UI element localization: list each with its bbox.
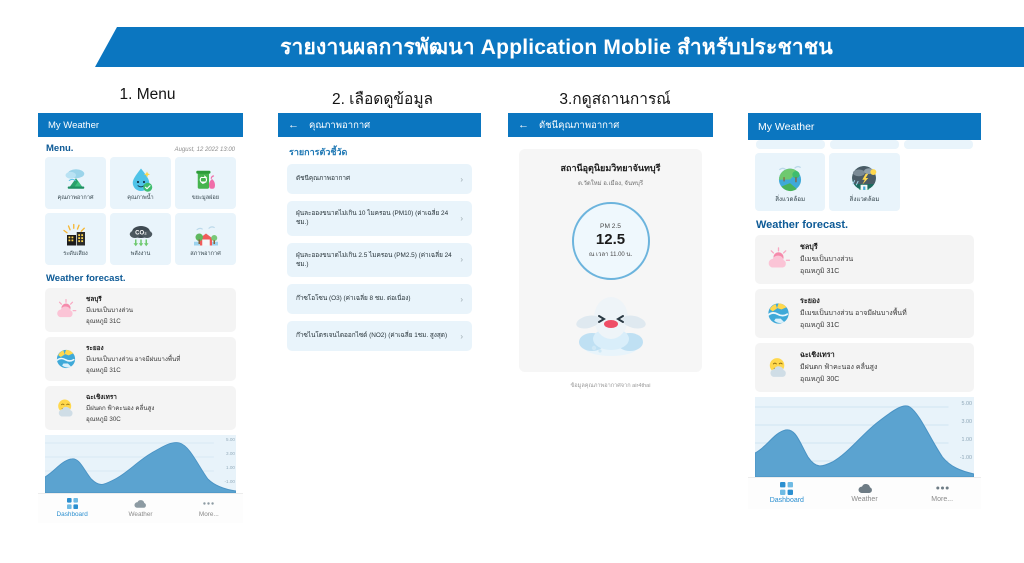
forecast-card[interactable]: ชลบุรี มีเมฆเป็นบางส่วน อุณหภูมิ 31C [45, 288, 236, 332]
y-tick-label: -1.00 [225, 479, 235, 484]
nav-label: Dashboard [770, 497, 804, 504]
step-caption-2: 2. เลือดดูข้อมูล [295, 86, 470, 111]
data-source-note: ข้อมูลคุณภาพอากาศจาก air4thai [508, 382, 713, 390]
chevron-right-icon: › [460, 175, 463, 184]
menu-tile-grid: คุณภาพอากาศ คุณภาพน้ำ [38, 157, 243, 265]
area-chart-svg [755, 397, 974, 477]
menu-tile-environment-2[interactable]: สิ่งแวดล้อม [829, 153, 899, 211]
energy-co2-icon: CO₂ [126, 220, 156, 250]
menu-tile-environment-1[interactable]: สิ่งแวดล้อม [755, 153, 825, 211]
forecast-desc: มีฝนตก ฟ้าคะนอง คลื่นสูง [86, 403, 154, 413]
noise-level-icon [61, 220, 91, 250]
phone3-app-bar: ← ดัชนีคุณภาพอากาศ [508, 113, 713, 137]
phone-mockup-menu: My Weather Menu. August, 12 2022 13:00 [38, 113, 243, 545]
forecast-text: ระยอง มีเมฆเป็นบางส่วน อาจมีฝนบางพื้นที่… [86, 343, 180, 375]
menu-tile-row-cropped [748, 140, 981, 149]
back-arrow-icon[interactable]: ← [288, 120, 299, 131]
pm25-time: ณ เวลา 11.00 น. [589, 249, 632, 259]
forecast-card[interactable]: ระยอง มีเมฆเป็นบางส่วน อาจมีฝนบางพื้นที่… [45, 337, 236, 381]
indicator-list-item[interactable]: ฝุ่นละอองขนาดไม่เกิน 10 ไมครอน (PM10) (ค… [287, 201, 472, 236]
forecast-desc: มีเมฆเป็นบางส่วน [800, 254, 853, 265]
slide-root: รายงานผลการพัฒนา Application Moblie สำหร… [0, 0, 1024, 563]
phone4-app-bar: My Weather [748, 113, 981, 140]
menu-tile-label: คุณภาพน้ำ [127, 196, 153, 202]
forecast-city: ระยอง [800, 296, 907, 307]
ellipsis-icon [202, 498, 215, 509]
menu-tile-grid-environment: สิ่งแวดล้อม [748, 153, 981, 211]
page-title: รายงานผลการพัฒนา Application Moblie สำหร… [95, 31, 1024, 64]
step-caption-3: 3.กดูสถานการณ์ [525, 86, 705, 111]
nav-item-dashboard[interactable]: Dashboard [38, 494, 106, 523]
indicator-label: ก๊าซโอโซน (O3) (ค่าเฉลี่ย 8 ชม. ต่อเนื่อ… [296, 294, 411, 303]
menu-tile-air-quality[interactable]: คุณภาพอากาศ [45, 157, 106, 209]
cloud-sun-pink-icon [764, 245, 793, 274]
nav-label: More... [199, 511, 219, 518]
waste-icon [191, 164, 221, 194]
forecast-card[interactable]: ฉะเชิงเทรา มีฝนตก ฟ้าคะนอง คลื่นสูง อุณห… [45, 386, 236, 430]
cloud-icon [858, 482, 872, 494]
phone2-body: รายการตัวชี้วัด ดัชนีคุณภาพอากาศ › ฝุ่นล… [278, 137, 481, 545]
cloud-sun-pink-icon [53, 297, 79, 323]
menu-tile-label: ระดับเสียง [63, 252, 88, 258]
grid-dashboard-icon [67, 498, 78, 509]
air-quality-icon [61, 164, 91, 194]
phone-mockup-aqi-detail: ← ดัชนีคุณภาพอากาศ สถานีอุตุนิยมวิทยาจัน… [508, 113, 713, 413]
weather-condition-icon [191, 220, 221, 250]
phone1-app-title: My Weather [48, 120, 99, 131]
menu-tile-water-quality[interactable]: คุณภาพน้ำ [110, 157, 171, 209]
indicator-list-item[interactable]: ดัชนีคุณภาพอากาศ › [287, 164, 472, 194]
phone1-body: Menu. August, 12 2022 13:00 คุณภาพอากาศ [38, 137, 243, 523]
forecast-city: ระยอง [86, 343, 180, 353]
indicator-list-item[interactable]: ก๊าซไนโตรเจนไดออกไซด์ (NO2) (ค่าเฉลี่ย 1… [287, 321, 472, 351]
environment-earth-icon [773, 161, 807, 195]
indicator-label: ฝุ่นละอองขนาดไม่เกิน 2.5 ไมครอน (PM2.5) … [296, 251, 454, 270]
water-quality-icon [126, 164, 156, 194]
nav-item-more[interactable]: More... [175, 494, 243, 523]
pm25-label: PM 2.5 [600, 223, 621, 230]
forecast-temp: อุณหภูมิ 31C [86, 365, 180, 375]
indicator-label: ฝุ่นละอองขนาดไม่เกิน 10 ไมครอน (PM10) (ค… [296, 209, 454, 228]
phone4-app-title: My Weather [758, 121, 814, 133]
y-tick-label: -1.00 [960, 455, 972, 461]
y-tick-label: 3.00 [226, 451, 235, 456]
menu-tile-label: พลังงาน [131, 252, 151, 258]
menu-tile-label: สิ่งแวดล้อม [850, 197, 880, 203]
station-name: สถานีอุตุนิยมวิทยาจันทบุรี [561, 161, 661, 175]
forecast-area-chart: 5.00 3.00 1.00 -1.00 [45, 435, 236, 493]
phone2-app-title: คุณภาพอากาศ [309, 118, 370, 133]
chevron-right-icon: › [460, 295, 463, 304]
menu-timestamp: August, 12 2022 13:00 [175, 147, 235, 153]
menu-header-row: Menu. August, 12 2022 13:00 [38, 137, 243, 157]
menu-tile-weather[interactable]: สภาพอากาศ [175, 213, 236, 265]
nav-label: Weather [851, 496, 877, 503]
earth-cloud-icon [764, 299, 793, 328]
chevron-right-icon: › [460, 332, 463, 341]
forecast-city: ชลบุรี [800, 242, 853, 253]
menu-heading: Menu. [46, 143, 73, 154]
sun-cloud-icon [53, 395, 79, 421]
indicator-label: ดัชนีคุณภาพอากาศ [296, 174, 350, 183]
y-tick-label: 5.00 [226, 437, 235, 442]
menu-tile-label: สิ่งแวดล้อม [775, 197, 805, 203]
slide-banner: รายงานผลการพัฒนา Application Moblie สำหร… [95, 27, 1024, 67]
menu-tile-cropped[interactable] [830, 140, 899, 149]
step-caption-1: 1. Menu [60, 86, 235, 104]
forecast-temp: อุณหภูมิ 31C [86, 316, 133, 326]
forecast-text: ชลบุรี มีเมฆเป็นบางส่วน อุณหภูมิ 31C [800, 242, 853, 277]
phone3-body: สถานีอุตุนิยมวิทยาจันทบุรี ต.วัดใหม่ อ.เ… [508, 149, 713, 413]
weather-forecast-heading: Weather forecast. [748, 211, 981, 235]
nav-item-more[interactable]: More... [903, 478, 981, 509]
svg-text:CO₂: CO₂ [135, 230, 147, 236]
grid-dashboard-icon [780, 482, 793, 495]
back-arrow-icon[interactable]: ← [518, 120, 529, 131]
menu-tile-waste[interactable]: ขยะมูลฝอย [175, 157, 236, 209]
y-tick-label: 1.00 [226, 465, 235, 470]
menu-tile-label: ขยะมูลฝอย [192, 196, 219, 202]
chevron-right-icon: › [460, 214, 463, 223]
forecast-desc: มีเมฆเป็นบางส่วน [86, 305, 133, 315]
forecast-area-chart: 5.00 3.00 1.00 -1.00 [755, 397, 974, 477]
forecast-temp: อุณหภูมิ 31C [800, 320, 907, 331]
earth-cloud-icon [53, 346, 79, 372]
forecast-card[interactable]: ฉะเชิงเทรา มีฝนตก ฟ้าคะนอง คลื่นสูง อุณห… [755, 343, 974, 392]
storm-environment-icon [847, 161, 881, 195]
forecast-city: ชลบุรี [86, 294, 133, 304]
phone4-body: สิ่งแวดล้อม [748, 140, 981, 509]
cloud-icon [134, 498, 146, 509]
y-tick-label: 5.00 [962, 401, 973, 407]
menu-tile-label: สภาพอากาศ [190, 252, 221, 258]
phone1-app-bar: My Weather [38, 113, 243, 137]
forecast-card[interactable]: ชลบุรี มีเมฆเป็นบางส่วน อุณหภูมิ 31C [755, 235, 974, 284]
forecast-city: ฉะเชิงเทรา [86, 392, 154, 402]
phone3-app-title: ดัชนีคุณภาพอากาศ [539, 118, 619, 133]
station-address: ต.วัดใหม่ อ.เมือง, จันทบุรี [578, 178, 643, 188]
forecast-city: ฉะเชิงเทรา [800, 350, 877, 361]
forecast-desc: มีฝนตก ฟ้าคะนอง คลื่นสูง [800, 362, 877, 373]
forecast-desc: มีเมฆเป็นบางส่วน อาจมีฝนบางพื้นที่ [800, 308, 907, 319]
phone-mockup-indicator-list: ← คุณภาพอากาศ รายการตัวชี้วัด ดัชนีคุณภา… [278, 113, 481, 545]
forecast-temp: อุณหภูมิ 31C [800, 266, 853, 277]
weather-forecast-heading: Weather forecast. [38, 265, 243, 288]
phone4-bottom-nav: Dashboard Weather More... [748, 477, 981, 509]
menu-tile-energy[interactable]: CO₂ พลังงาน [110, 213, 171, 265]
indicator-label: ก๊าซไนโตรเจนไดออกไซด์ (NO2) (ค่าเฉลี่ย 1… [296, 331, 447, 340]
menu-tile-label: คุณภาพอากาศ [57, 196, 93, 202]
ellipsis-icon [935, 482, 950, 494]
nav-item-dashboard[interactable]: Dashboard [748, 478, 826, 509]
nav-label: More... [931, 496, 953, 503]
forecast-text: ระยอง มีเมฆเป็นบางส่วน อาจมีฝนบางพื้นที่… [800, 296, 907, 331]
indicator-list-item[interactable]: ก๊าซโอโซน (O3) (ค่าเฉลี่ย 8 ชม. ต่อเนื่อ… [287, 284, 472, 314]
y-tick-label: 3.00 [962, 419, 973, 425]
menu-tile-cropped[interactable] [904, 140, 973, 149]
indicator-list-heading: รายการตัวชี้วัด [278, 137, 481, 164]
forecast-text: ชลบุรี มีเมฆเป็นบางส่วน อุณหภูมิ 31C [86, 294, 133, 326]
phone2-app-bar: ← คุณภาพอากาศ [278, 113, 481, 137]
nav-label: Dashboard [57, 511, 88, 518]
nav-label: Weather [128, 511, 152, 518]
forecast-temp: อุณหภูมิ 30C [800, 374, 877, 385]
nav-item-weather[interactable]: Weather [826, 478, 904, 509]
area-chart-svg [45, 435, 236, 493]
forecast-text: ฉะเชิงเทรา มีฝนตก ฟ้าคะนอง คลื่นสูง อุณห… [800, 350, 877, 385]
nav-item-weather[interactable]: Weather [106, 494, 174, 523]
phone-mockup-menu-scrolled: My Weather [748, 113, 981, 545]
forecast-temp: อุณหภูมิ 30C [86, 414, 154, 424]
menu-tile-noise[interactable]: ระดับเสียง [45, 213, 106, 265]
indicator-list-item[interactable]: ฝุ่นละอองขนาดไม่เกิน 2.5 ไมครอน (PM2.5) … [287, 243, 472, 278]
sun-cloud-icon [764, 353, 793, 382]
phone1-bottom-nav: Dashboard Weather More... [38, 493, 243, 523]
mascot-cloud-icon [568, 292, 654, 358]
chevron-right-icon: › [460, 255, 463, 264]
y-tick-label: 1.00 [962, 437, 973, 443]
pm25-gauge: PM 2.5 12.5 ณ เวลา 11.00 น. [572, 202, 650, 280]
forecast-desc: มีเมฆเป็นบางส่วน อาจมีฝนบางพื้นที่ [86, 354, 180, 364]
station-detail-card: สถานีอุตุนิยมวิทยาจันทบุรี ต.วัดใหม่ อ.เ… [519, 149, 702, 372]
pm25-value: 12.5 [596, 231, 625, 248]
forecast-card[interactable]: ระยอง มีเมฆเป็นบางส่วน อาจมีฝนบางพื้นที่… [755, 289, 974, 338]
menu-tile-cropped[interactable] [756, 140, 825, 149]
forecast-text: ฉะเชิงเทรา มีฝนตก ฟ้าคะนอง คลื่นสูง อุณห… [86, 392, 154, 424]
